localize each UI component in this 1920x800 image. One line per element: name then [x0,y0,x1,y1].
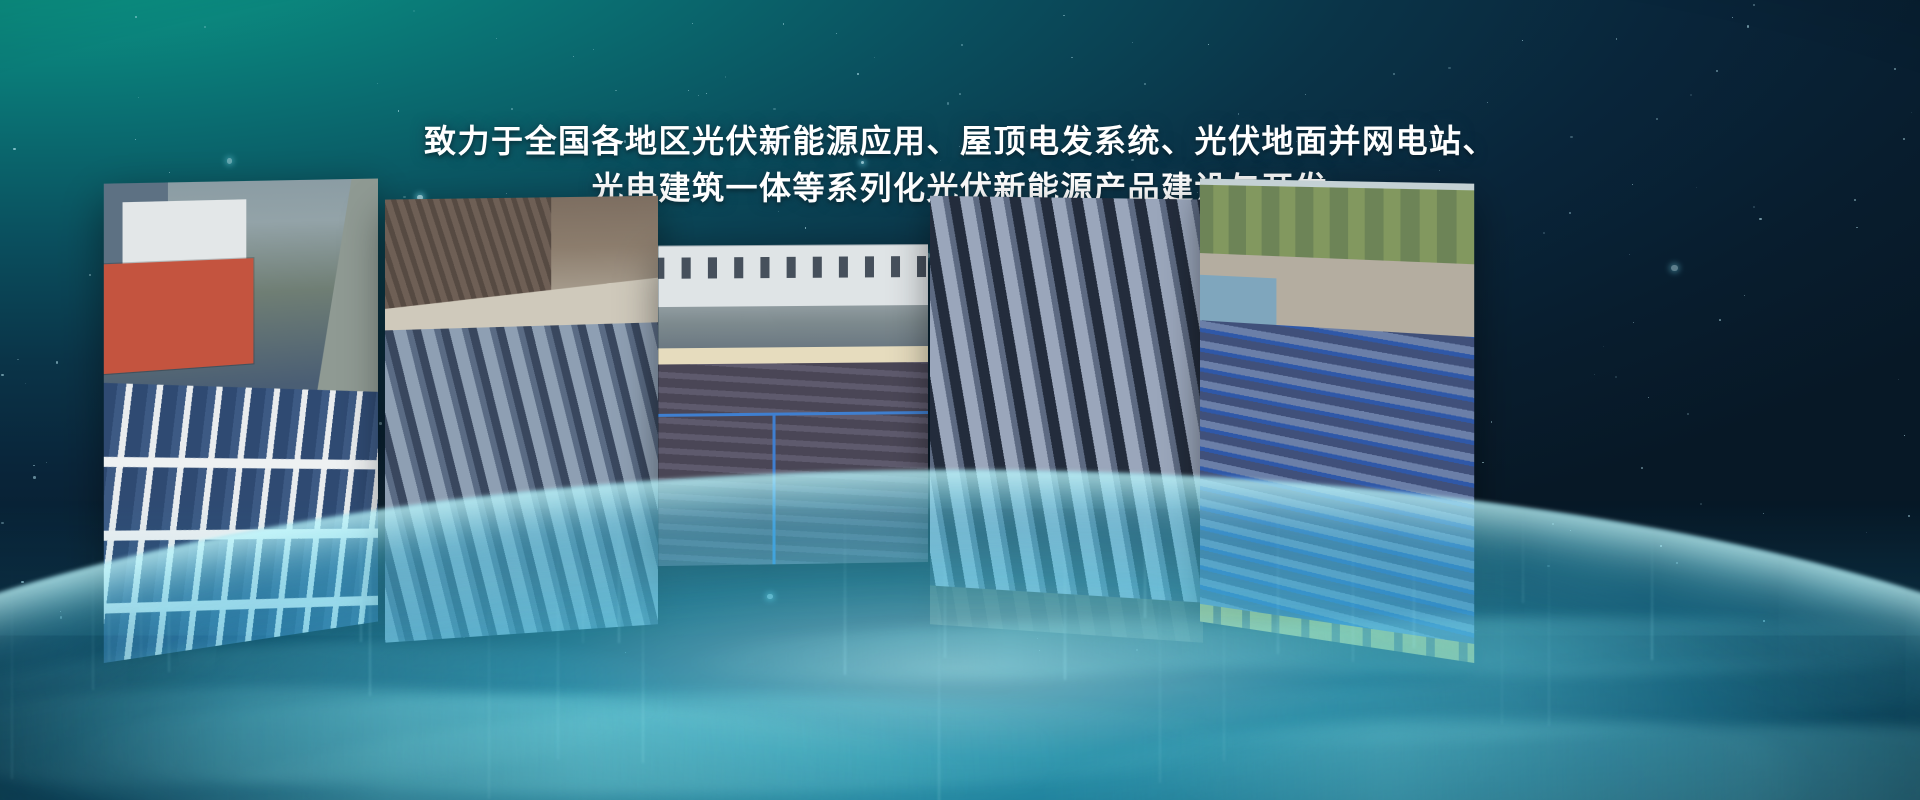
photo3-windows [658,256,928,278]
photo1-building-red [104,258,253,376]
solar-banner: 致力于全国各地区光伏新能源应用、屋顶电发系统、光伏地面并网电站、 光电建筑一体等… [0,0,1920,800]
